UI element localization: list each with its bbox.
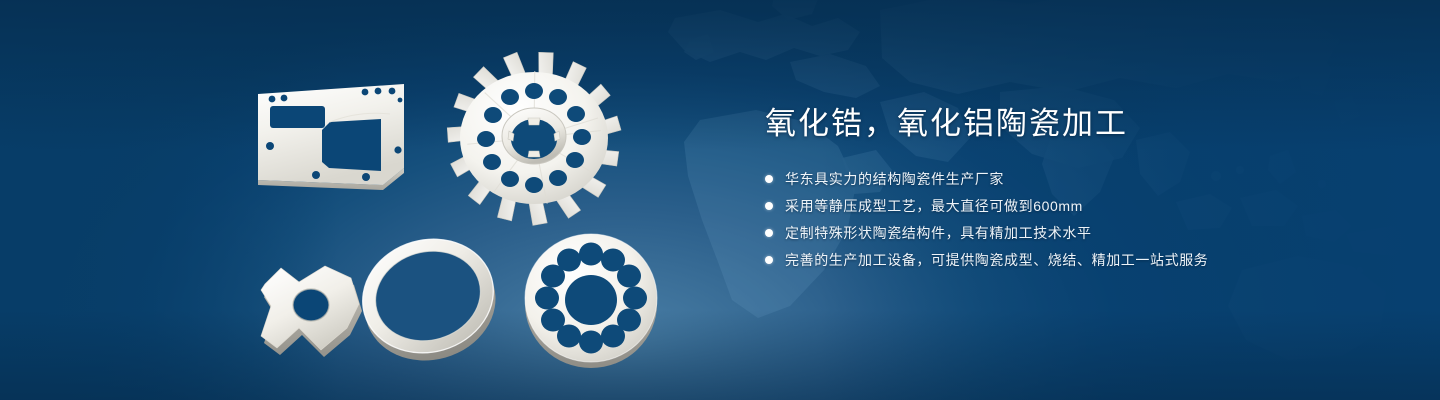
product-image-group — [0, 0, 740, 400]
bullet-dot-icon — [765, 256, 773, 264]
list-item: 完善的生产加工设备，可提供陶瓷成型、烧结、精加工一站式服务 — [765, 251, 1385, 269]
feature-list: 华东具实力的结构陶瓷件生产厂家 采用等静压成型工艺，最大直径可做到600mm 定… — [765, 170, 1385, 269]
list-item: 华东具实力的结构陶瓷件生产厂家 — [765, 170, 1385, 188]
ceramic-ring — [348, 228, 508, 363]
ceramic-machined-plate — [252, 78, 432, 198]
page-title: 氧化锆，氧化铝陶瓷加工 — [765, 105, 1385, 144]
bullet-dot-icon — [765, 229, 773, 237]
list-item-label: 华东具实力的结构陶瓷件生产厂家 — [785, 170, 1004, 188]
banner-text-column: 氧化锆，氧化铝陶瓷加工 华东具实力的结构陶瓷件生产厂家 采用等静压成型工艺，最大… — [765, 105, 1385, 278]
ceramic-hole-disc — [517, 228, 667, 373]
list-item-label: 完善的生产加工设备，可提供陶瓷成型、烧结、精加工一站式服务 — [785, 251, 1208, 269]
ceramic-processing-banner: 氧化锆，氧化铝陶瓷加工 华东具实力的结构陶瓷件生产厂家 采用等静压成型工艺，最大… — [0, 0, 1440, 400]
list-item: 定制特殊形状陶瓷结构件，具有精加工技术水平 — [765, 224, 1385, 242]
bullet-dot-icon — [765, 202, 773, 210]
ceramic-impeller-disc — [446, 52, 626, 222]
bullet-dot-icon — [765, 175, 773, 183]
list-item: 采用等静压成型工艺，最大直径可做到600mm — [765, 197, 1385, 215]
list-item-label: 定制特殊形状陶瓷结构件，具有精加工技术水平 — [785, 224, 1092, 242]
list-item-label: 采用等静压成型工艺，最大直径可做到600mm — [785, 197, 1083, 215]
